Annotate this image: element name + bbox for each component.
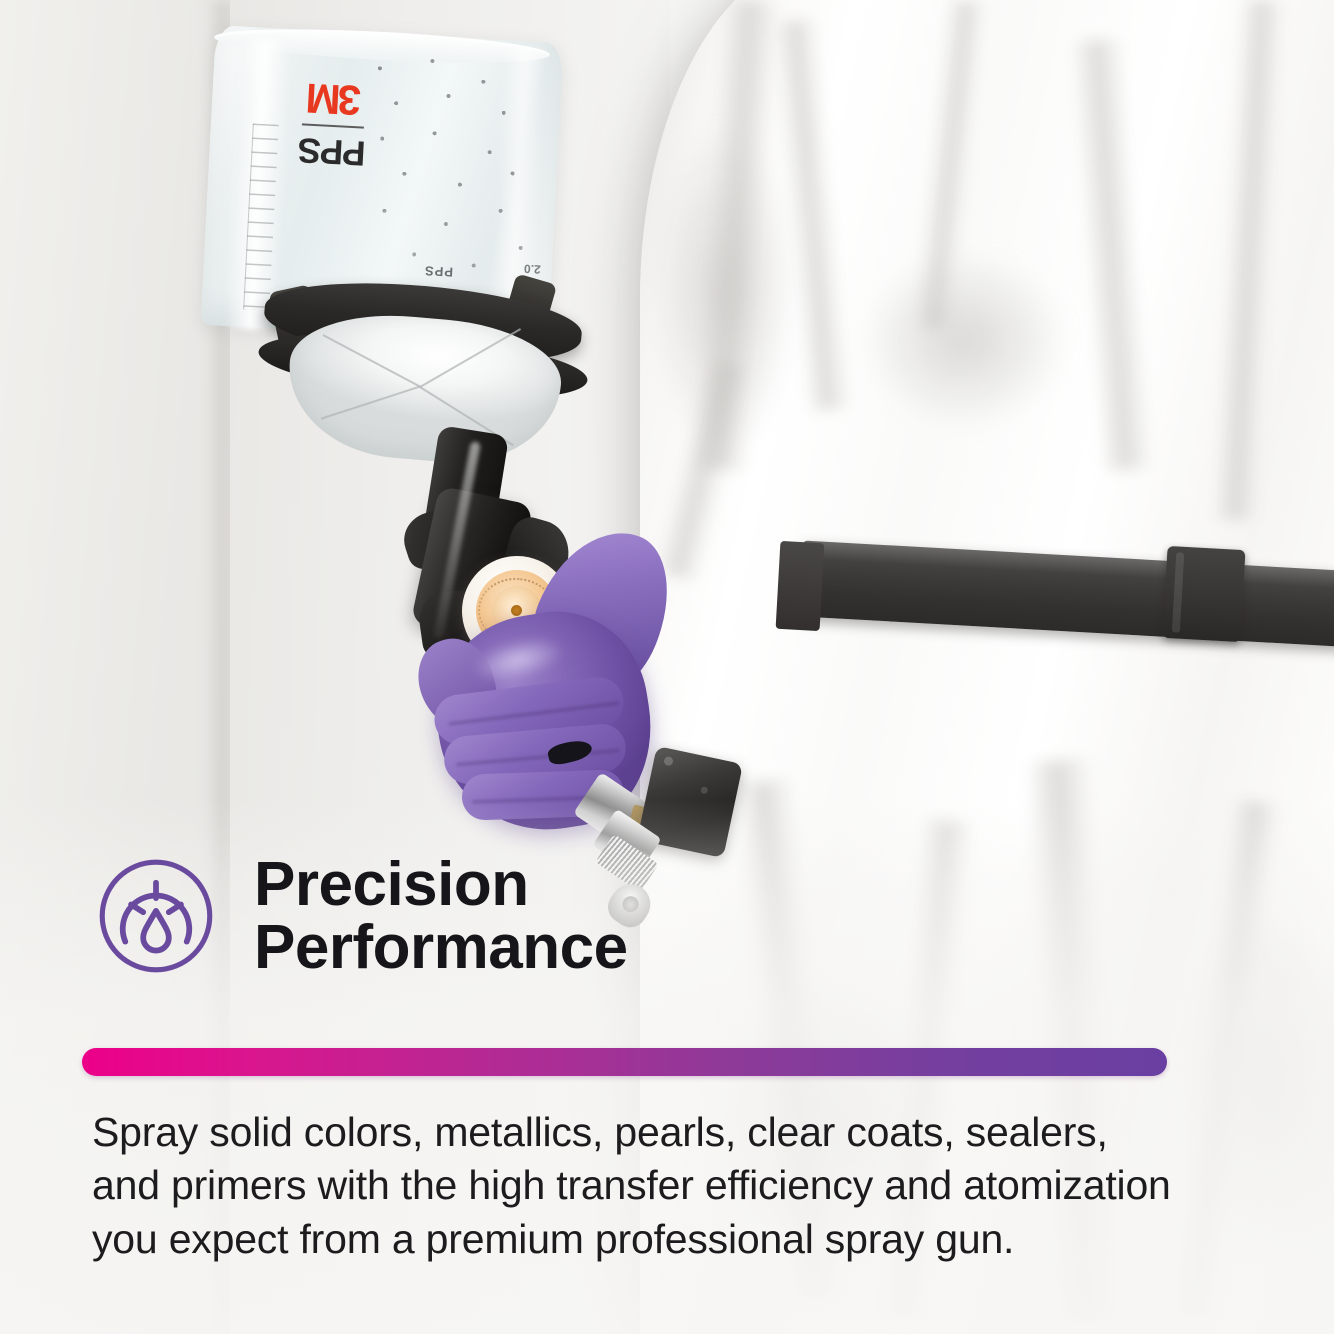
pps-wordmark: PPS bbox=[298, 132, 367, 170]
feature-description: Spray solid colors, metallics, pearls, c… bbox=[92, 1106, 1174, 1266]
air-cap-nozzle-orifice bbox=[511, 605, 522, 616]
gauge-droplet-icon bbox=[92, 852, 220, 980]
gradient-rule bbox=[82, 1048, 1167, 1076]
cup-side-mark: PPS bbox=[424, 263, 454, 279]
product-feature-card: PPS 3M PPS 2.0 bbox=[0, 0, 1334, 1334]
cup-side-mark-secondary: 2.0 bbox=[524, 262, 541, 277]
feature-heading-block: Precision Performance bbox=[92, 852, 792, 980]
feature-title-line-2: Performance bbox=[254, 916, 628, 979]
3m-wordmark: 3M bbox=[300, 76, 369, 121]
cup-branding: PPS 3M bbox=[298, 76, 370, 170]
feature-title: Precision Performance bbox=[254, 853, 628, 979]
feature-title-line-1: Precision bbox=[254, 853, 628, 916]
